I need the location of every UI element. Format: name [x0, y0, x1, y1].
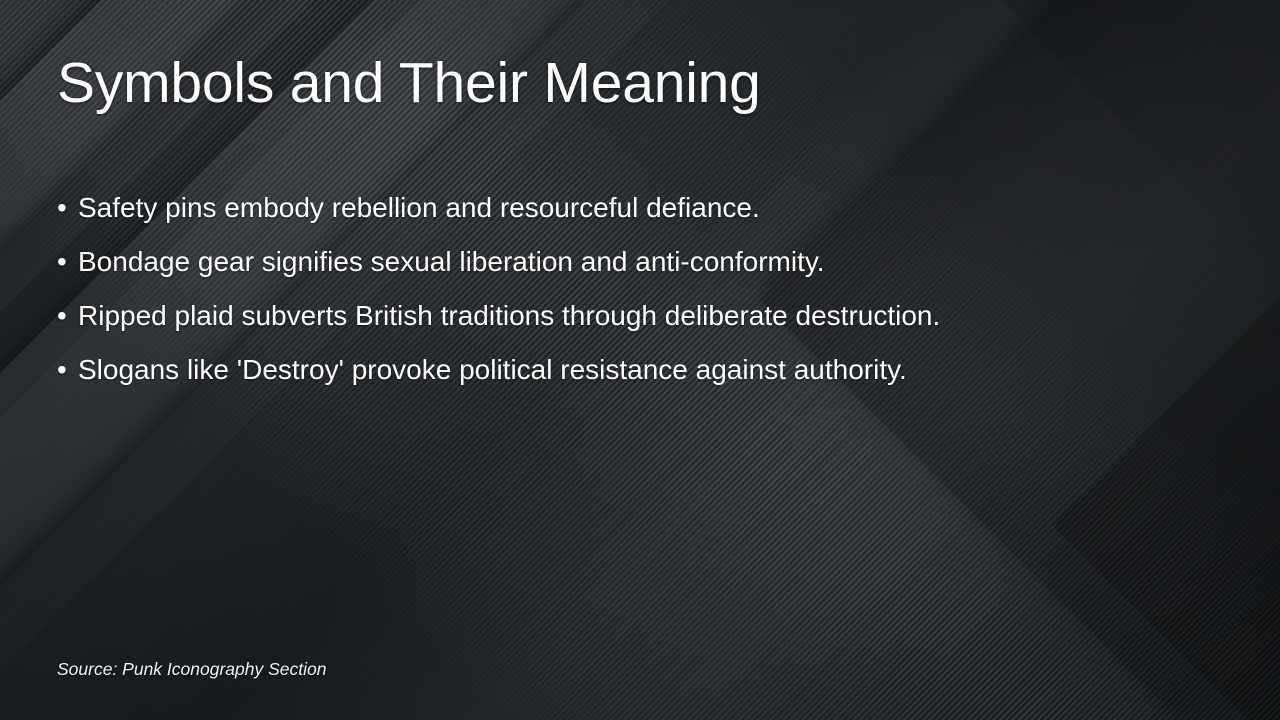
list-item-text: Bondage gear signifies sexual liberation…: [78, 240, 825, 283]
bullet-marker-icon: •: [57, 294, 78, 337]
list-item: • Bondage gear signifies sexual liberati…: [57, 240, 1217, 294]
bullet-list: • Safety pins embody rebellion and resou…: [57, 186, 1217, 402]
list-item: • Safety pins embody rebellion and resou…: [57, 186, 1217, 240]
source-caption: Source: Punk Iconography Section: [57, 657, 326, 681]
slide-content: Symbols and Their Meaning • Safety pins …: [0, 0, 1280, 720]
bullet-marker-icon: •: [57, 348, 78, 391]
list-item-text: Ripped plaid subverts British traditions…: [78, 294, 940, 337]
page-title: Symbols and Their Meaning: [57, 54, 761, 114]
list-item: • Ripped plaid subverts British traditio…: [57, 294, 1217, 348]
list-item-text: Safety pins embody rebellion and resourc…: [78, 186, 760, 229]
bullet-marker-icon: •: [57, 240, 78, 283]
list-item-text: Slogans like 'Destroy' provoke political…: [78, 348, 907, 391]
list-item: • Slogans like 'Destroy' provoke politic…: [57, 348, 1217, 402]
presentation-slide: Symbols and Their Meaning • Safety pins …: [0, 0, 1280, 720]
bullet-marker-icon: •: [57, 186, 78, 229]
